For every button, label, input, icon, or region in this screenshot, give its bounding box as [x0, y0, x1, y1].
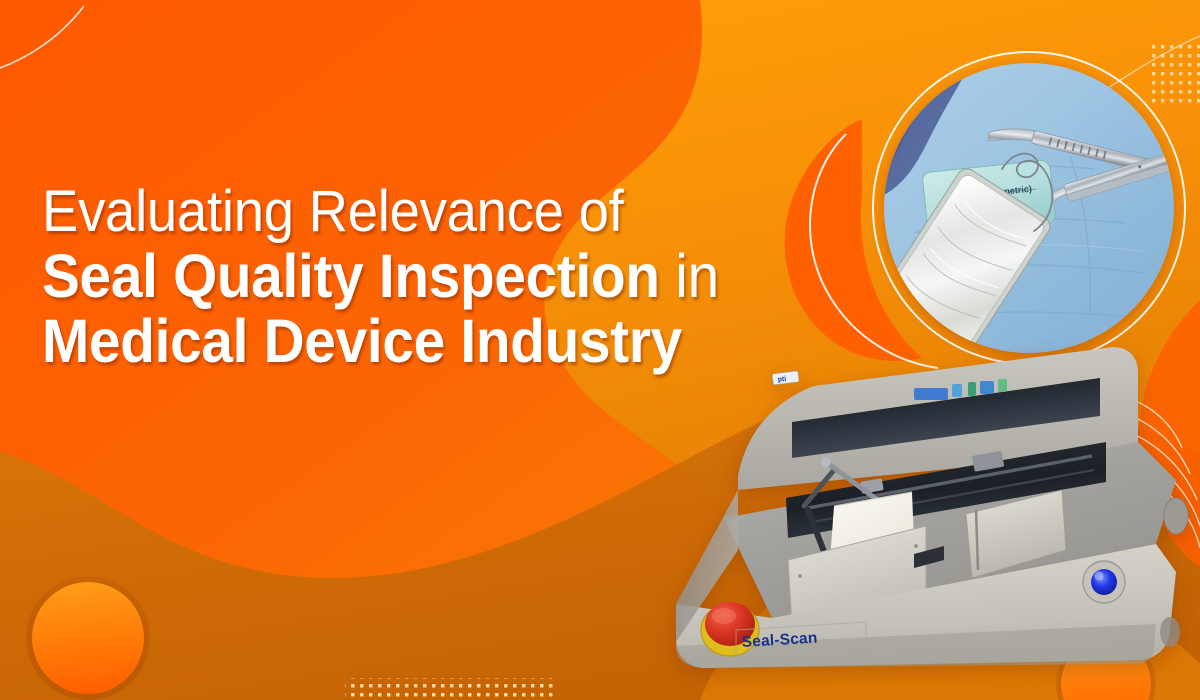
- top-right-hairline-icon: [1102, 36, 1200, 92]
- seal-scan-machine-photo: pti: [676, 330, 1192, 668]
- svg-text:pti: pti: [777, 376, 786, 384]
- headline-line-3: Medical Device Industry: [42, 311, 749, 371]
- headline-line-2-light: in: [675, 242, 719, 310]
- page-title: Evaluating Relevance of Seal Quality Ins…: [42, 183, 802, 375]
- headline-line-1: Evaluating Relevance of: [42, 183, 756, 240]
- banner-hero: 4-0 (1.5 metric) SILK: [0, 0, 1200, 700]
- headline-line-2-bold: Seal Quality Inspection: [42, 242, 660, 310]
- power-indicator-light: [1083, 561, 1125, 603]
- surgical-field-photo: 4-0 (1.5 metric) SILK: [884, 63, 1174, 353]
- machine-rear-knob: [1164, 498, 1188, 534]
- headline-line-2: Seal Quality Inspection in: [42, 246, 749, 306]
